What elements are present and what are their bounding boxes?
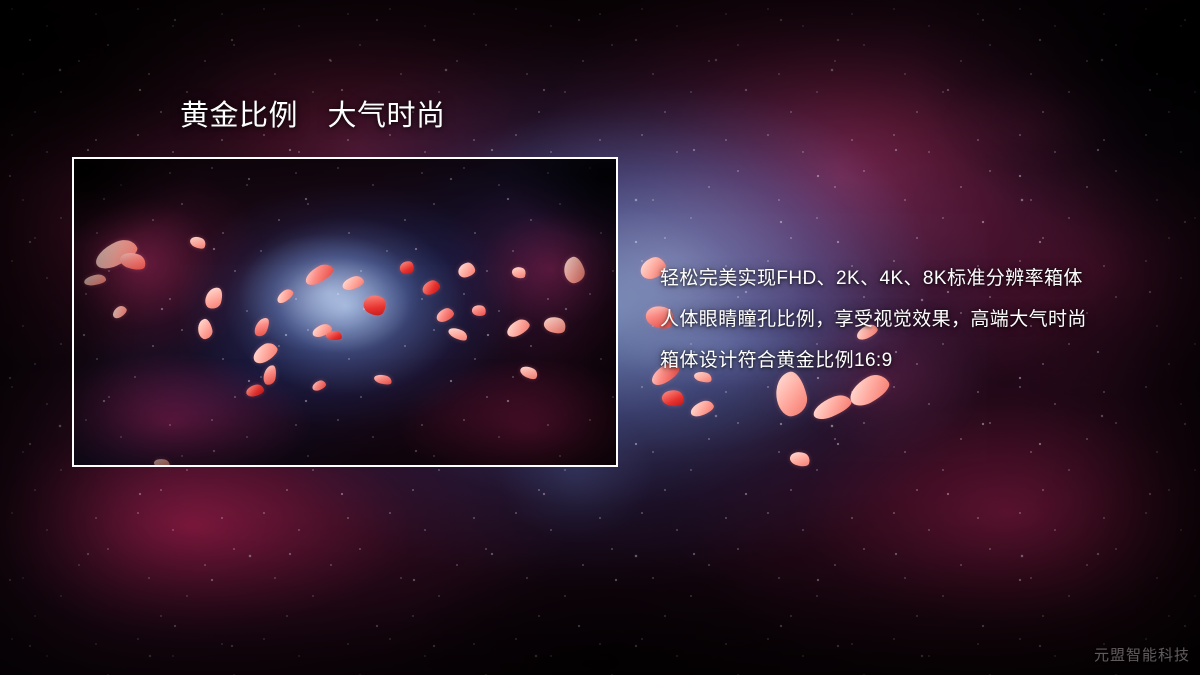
body-line: 箱体设计符合黄金比例16:9	[660, 340, 1160, 381]
framed-image	[72, 157, 618, 467]
body-line: 轻松完美实现FHD、2K、4K、8K标准分辨率箱体	[660, 258, 1160, 299]
presentation-slide: 黄金比例 大气时尚 轻松完美实现FHD、2K、4K、8K标准分辨率箱体 人体眼睛…	[0, 0, 1200, 675]
framed-image-vignette	[74, 159, 616, 465]
watermark: 元盟智能科技	[1094, 644, 1190, 665]
body-text-block: 轻松完美实现FHD、2K、4K、8K标准分辨率箱体 人体眼睛瞳孔比例，享受视觉效…	[660, 258, 1160, 381]
body-line: 人体眼睛瞳孔比例，享受视觉效果，高端大气时尚	[660, 299, 1160, 340]
page-title: 黄金比例 大气时尚	[180, 99, 446, 133]
